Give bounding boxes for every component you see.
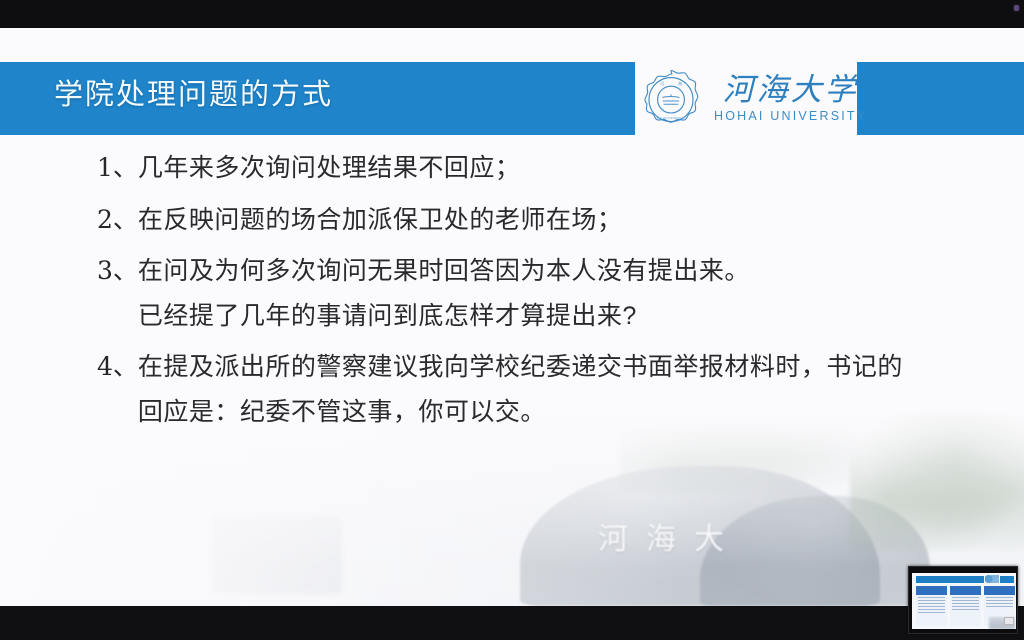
list-item-number: 1、 <box>97 146 138 191</box>
thumbnail-header-band-right <box>1000 576 1014 583</box>
thumbnail-card <box>916 586 947 626</box>
thumbnail-logo-icon <box>985 575 999 583</box>
slide-title: 学院处理问题的方式 <box>54 71 333 113</box>
screen: 河海大 学院处理问题的方式 <box>0 0 1024 640</box>
list-item-body: 几年来多次询问处理结果不回应； <box>138 146 521 191</box>
svg-text:河: 河 <box>660 80 665 86</box>
list-item-line: 在反映问题的场合加派保卫处的老师在场； <box>138 198 623 243</box>
list-item-body: 在提及派出所的警察建议我向学校纪委递交书面举报材料时，书记的 回应是：纪委不管这… <box>138 345 903 434</box>
list-item-line-continued: 回应是：纪委不管这事，你可以交。 <box>138 390 903 435</box>
list-item: 2、 在反映问题的场合加派保卫处的老师在场； <box>0 198 1024 243</box>
university-name-cn: 河海大学 <box>723 75 859 107</box>
thumbnail-card-header <box>984 586 1015 595</box>
list-item-line: 在提及派出所的警察建议我向学校纪委递交书面举报材料时，书记的 <box>138 345 903 390</box>
list-item-line-continued: 已经提了几年的事请问到底怎样才算提出来? <box>138 294 750 339</box>
university-logo-lockup: 河 海 HOHAI UNIVERSITY 河海大学 HOHAI UNIVERSI… <box>640 66 867 132</box>
screen-artifact-dot <box>1014 5 1019 11</box>
thumbnail-slide-preview <box>912 573 1016 629</box>
list-item-number: 4、 <box>97 345 138 390</box>
list-item: 3、 在问及为何多次询问无果时回答因为本人没有提出来。 已经提了几年的事请问到底… <box>0 249 1024 338</box>
list-item: 1、 几年来多次询问处理结果不回应； <box>0 146 1024 191</box>
slide-canvas: 河海大 学院处理问题的方式 <box>0 28 1024 606</box>
list-item-body: 在问及为何多次询问无果时回答因为本人没有提出来。 已经提了几年的事请问到底怎样才… <box>138 249 750 338</box>
list-item-line: 几年来多次询问处理结果不回应； <box>138 146 521 191</box>
list-item-body: 在反映问题的场合加派保卫处的老师在场； <box>138 198 623 243</box>
svg-text:HOHAI UNIVERSITY: HOHAI UNIVERSITY <box>657 116 685 120</box>
header-band-right <box>857 62 1024 135</box>
list-item-line: 在问及为何多次询问无果时回答因为本人没有提出来。 <box>138 249 750 294</box>
list-item-number: 2、 <box>97 198 138 243</box>
thumbnail-cursor-icon <box>1004 617 1014 625</box>
thumbnail-header-band <box>916 576 984 583</box>
thumbnail-card-body <box>916 595 947 626</box>
university-name-en: HOHAI UNIVERSITY <box>714 109 867 123</box>
thumbnail-card-body <box>950 595 981 626</box>
list-item: 4、 在提及派出所的警察建议我向学校纪委递交书面举报材料时，书记的 回应是：纪委… <box>0 345 1024 434</box>
hohai-university-seal-icon: 河 海 HOHAI UNIVERSITY <box>640 68 702 130</box>
slide-body-list: 1、 几年来多次询问处理结果不回应； 2、 在反映问题的场合加派保卫处的老师在场… <box>0 146 1024 441</box>
letterbox-bar-top <box>0 0 1024 28</box>
presentation-thumbnail[interactable] <box>908 566 1018 634</box>
letterbox-bar-bottom <box>0 606 1024 640</box>
thumbnail-card-header <box>916 586 947 595</box>
thumbnail-card-header <box>950 586 981 595</box>
list-item-number: 3、 <box>97 249 138 294</box>
university-wordmark: 河海大学 HOHAI UNIVERSITY <box>714 75 867 124</box>
thumbnail-card <box>950 586 981 626</box>
